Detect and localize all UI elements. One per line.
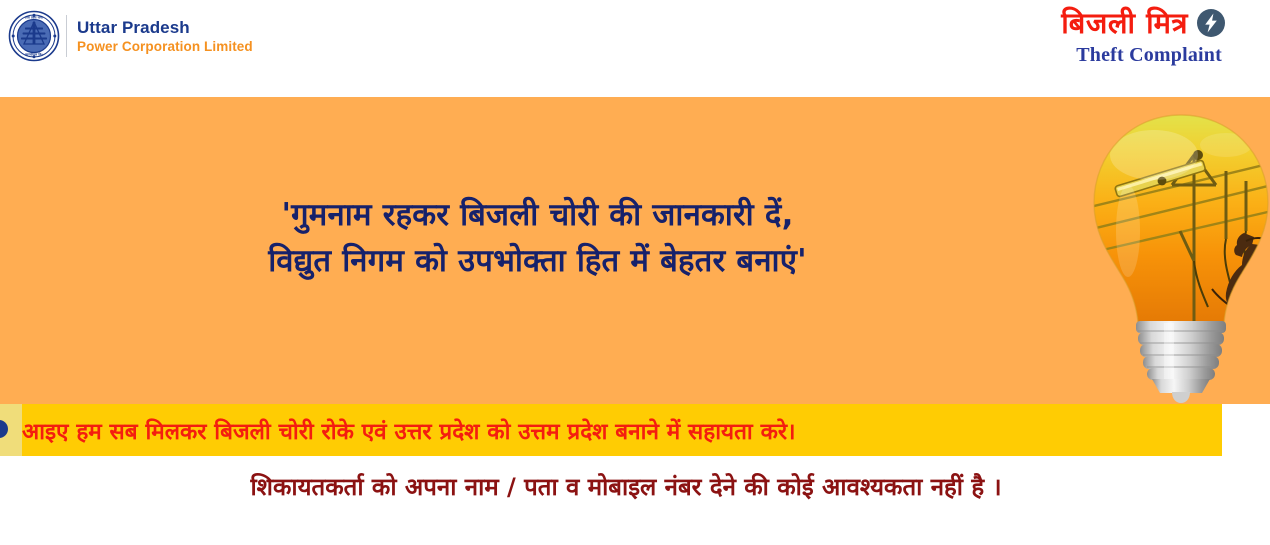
brand-name-secondary: Power Corporation Limited (77, 39, 253, 54)
hero-banner: 'गुमनाम रहकर बिजली चोरी की जानकारी दें, … (0, 97, 1270, 404)
brand-text: Uttar Pradesh Power Corporation Limited (77, 18, 253, 54)
bijli-mitra-logo[interactable]: बिजली मित्र Theft Complaint (1061, 8, 1226, 67)
bijli-mitra-title-row: बिजली मित्र (1061, 8, 1226, 38)
brand-divider (66, 15, 67, 57)
marquee-bullet-dot-icon (0, 420, 8, 438)
marquee-band[interactable]: आइए हम सब मिलकर बिजली चोरी रोके एवं उत्त… (0, 404, 1222, 456)
page-root: उत्तर प्रदेश पावर कारपोरेशन लि० Uttar Pr… (0, 0, 1270, 545)
lightning-bolt-icon (1196, 8, 1226, 38)
lightbulb-with-lineman-icon (1076, 111, 1270, 404)
banner-slogan-line-2: विद्युत निगम को उपभोक्ता हित में बेहतर ब… (0, 239, 1075, 285)
brand-lockup[interactable]: उत्तर प्रदेश पावर कारपोरेशन लि० Uttar Pr… (8, 10, 253, 62)
banner-slogan-line-1: 'गुमनाम रहकर बिजली चोरी की जानकारी दें, (281, 197, 793, 233)
site-header: उत्तर प्रदेश पावर कारपोरेशन लि० Uttar Pr… (0, 0, 1270, 97)
brand-name-primary: Uttar Pradesh (77, 18, 253, 37)
marquee-text: आइए हम सब मिलकर बिजली चोरी रोके एवं उत्त… (22, 404, 796, 456)
svg-text:उत्तर प्रदेश पावर: उत्तर प्रदेश पावर (24, 16, 44, 20)
anonymity-note: शिकायतकर्ता को अपना नाम / पता व मोबाइल न… (0, 470, 1252, 503)
upp-corporation-seal-icon: उत्तर प्रदेश पावर कारपोरेशन लि० (8, 10, 60, 62)
marquee-left-block (0, 404, 22, 456)
svg-text:कारपोरेशन लि०: कारपोरेशन लि० (24, 52, 43, 56)
theft-complaint-subtitle: Theft Complaint (1061, 44, 1222, 67)
bijli-mitra-title: बिजली मित्र (1061, 9, 1188, 38)
banner-slogan: 'गुमनाम रहकर बिजली चोरी की जानकारी दें, … (0, 193, 1075, 285)
